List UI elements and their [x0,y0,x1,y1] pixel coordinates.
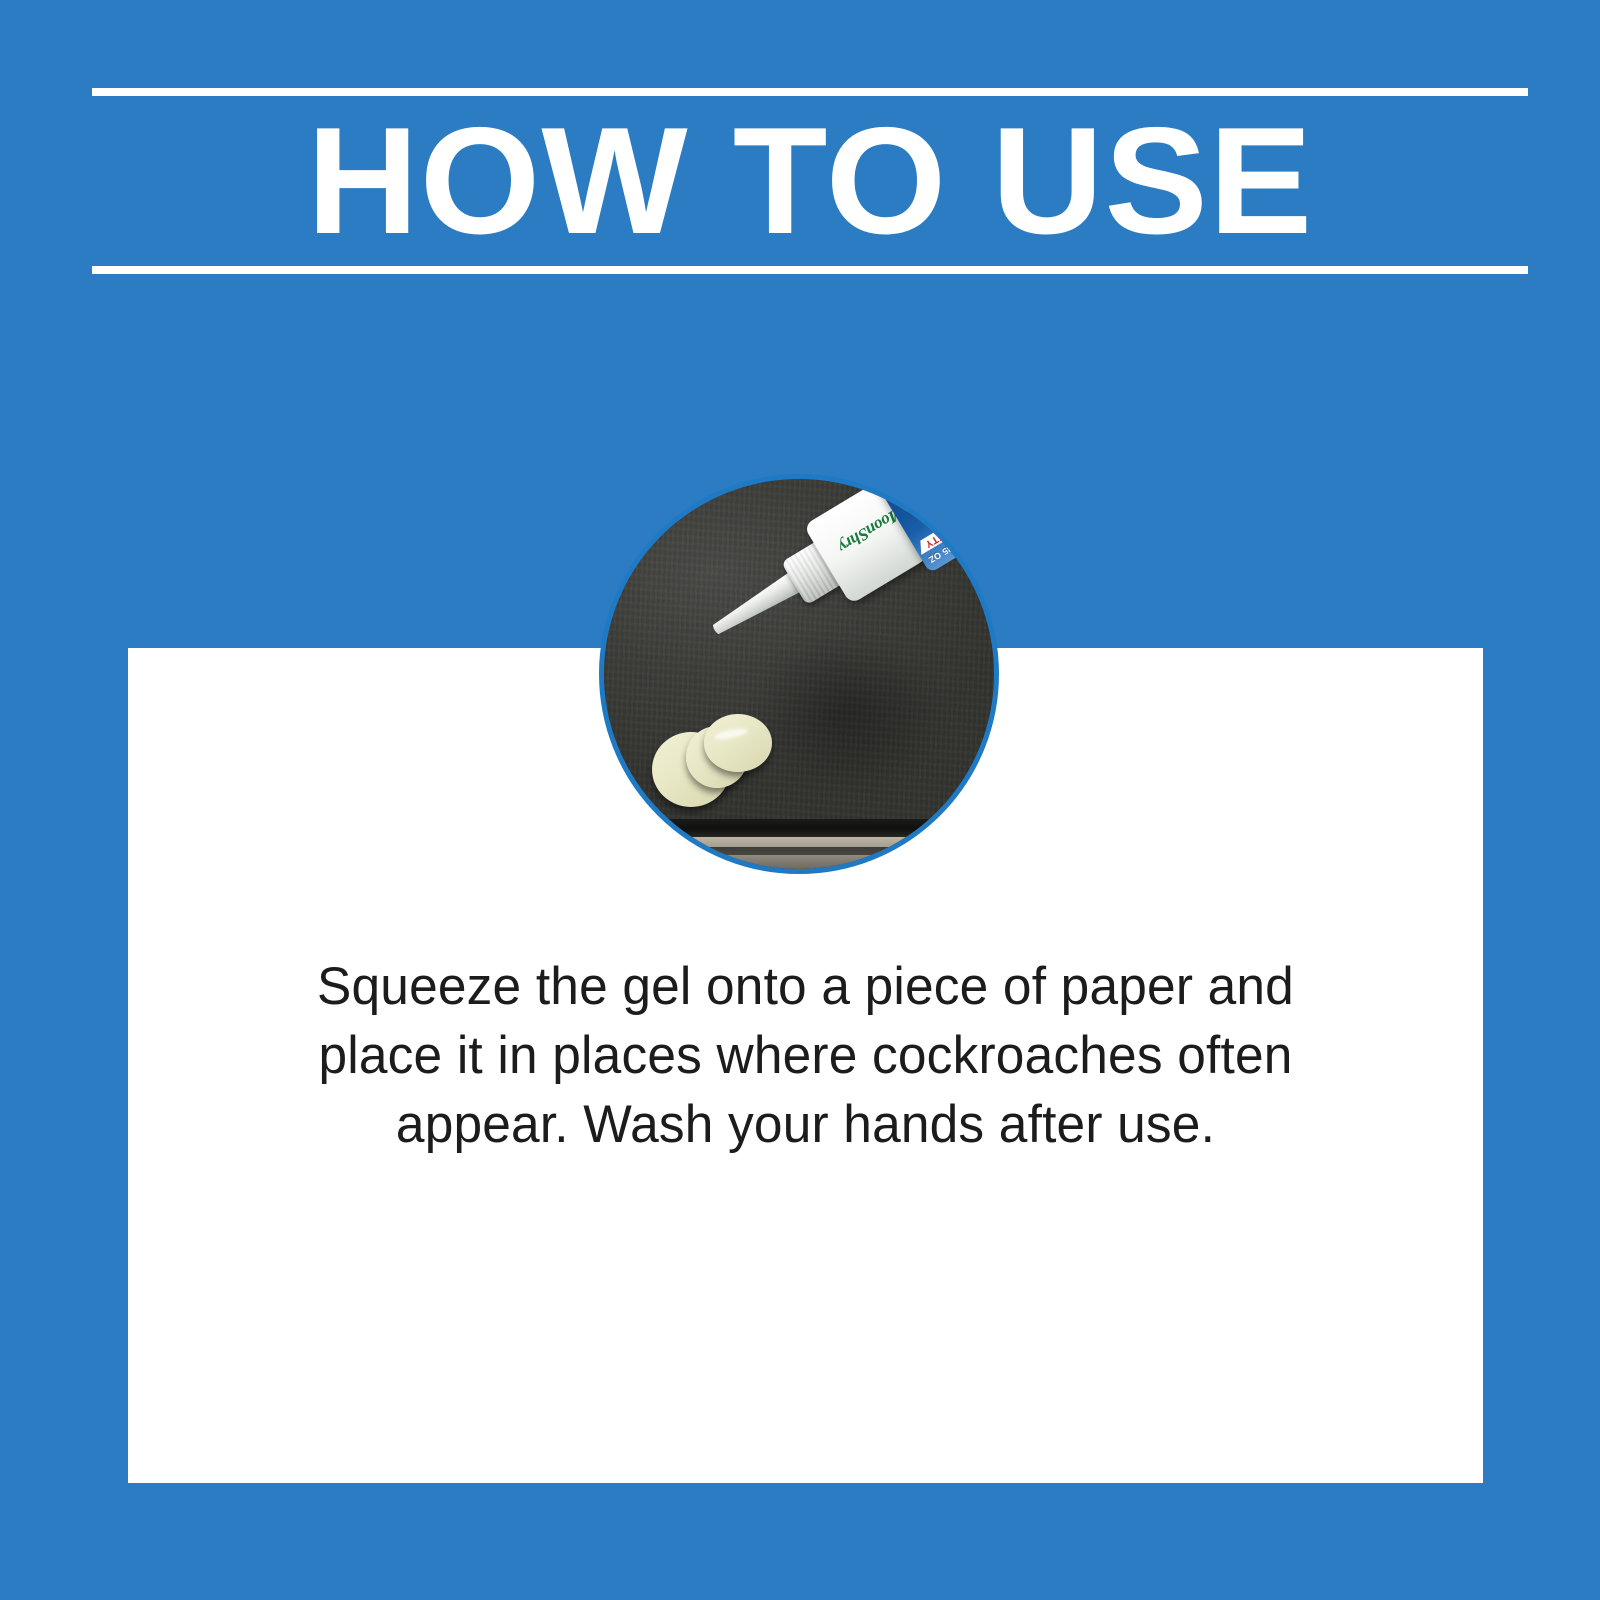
instruction-text: Squeeze the gel onto a piece of paper an… [255,953,1356,1160]
table-edge-seam [604,847,994,855]
header-block: HOW TO USE [92,88,1528,274]
gel-blob-lobe-small [704,714,772,772]
table-edge-strip [604,819,994,837]
how-to-use-poster: HOW TO USE Squeeze the gel onto a piece … [0,0,1600,1600]
page-title: HOW TO USE [78,88,1543,274]
gel-blob [652,710,787,810]
bottom-divider [92,266,1528,274]
product-photo: MoonShry CH BAIT ATE 1.5% LASTING Y EFFE… [604,479,994,869]
product-photo-circle: MoonShry CH BAIT ATE 1.5% LASTING Y EFFE… [599,474,999,874]
